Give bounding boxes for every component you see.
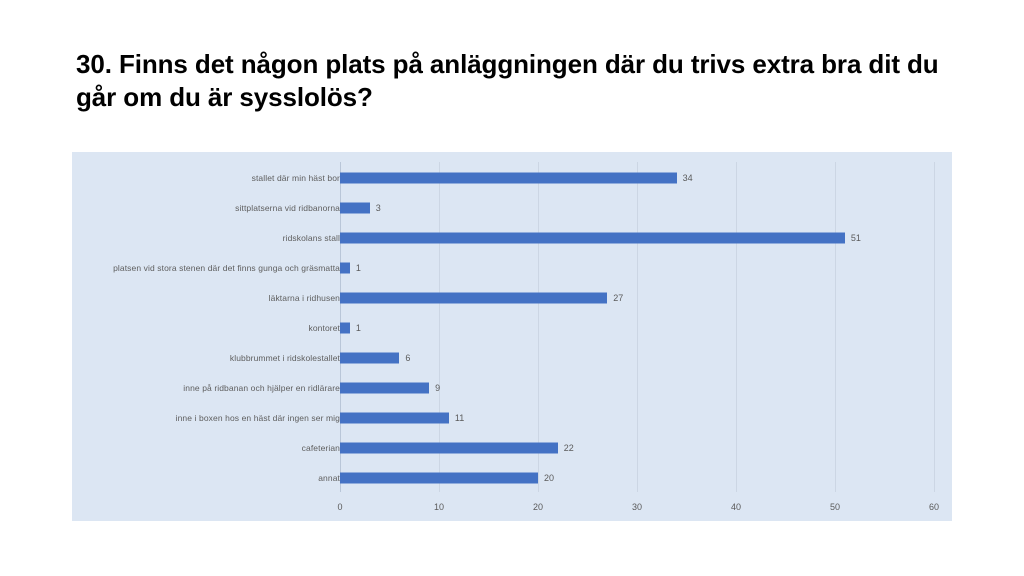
x-tick-label: 20 — [533, 502, 543, 512]
category-label: kontoret — [308, 323, 340, 333]
category-label: klubbrummet i ridskolestallet — [230, 353, 340, 363]
plot-area: 0102030405060 stallet där min häst bor34… — [72, 152, 952, 521]
bar-value-label: 6 — [405, 353, 410, 363]
x-tick-label: 30 — [632, 502, 642, 512]
bar[interactable] — [340, 413, 449, 424]
category-label: ridskolans stall — [283, 233, 340, 243]
bar-row: läktarna i ridhusen27 — [72, 283, 952, 313]
bar[interactable] — [340, 383, 429, 394]
chart-panel: 0102030405060 stallet där min häst bor34… — [72, 152, 952, 521]
x-tick-label: 40 — [731, 502, 741, 512]
bar-value-label: 9 — [435, 383, 440, 393]
bar[interactable] — [340, 353, 399, 364]
bar-value-label: 11 — [455, 413, 464, 423]
bar-row: inne på ridbanan och hjälper en ridlärar… — [72, 373, 952, 403]
bar-row: inne i boxen hos en häst där ingen ser m… — [72, 403, 952, 433]
bar-value-label: 1 — [356, 323, 361, 333]
bar-value-label: 1 — [356, 263, 361, 273]
bar-value-label: 51 — [851, 233, 861, 243]
x-tick-label: 60 — [929, 502, 939, 512]
bar[interactable] — [340, 473, 538, 484]
bar-row: klubbrummet i ridskolestallet6 — [72, 343, 952, 373]
bar-row: stallet där min häst bor34 — [72, 163, 952, 193]
bar-value-label: 34 — [683, 173, 693, 183]
x-tick-label: 0 — [337, 502, 342, 512]
bar[interactable] — [340, 443, 558, 454]
bar-value-label: 3 — [376, 203, 381, 213]
bar-row: sittplatserna vid ridbanorna3 — [72, 193, 952, 223]
x-tick-label: 10 — [434, 502, 444, 512]
category-label: stallet där min häst bor — [252, 173, 340, 183]
bar[interactable] — [340, 293, 607, 304]
category-label: inne på ridbanan och hjälper en ridlärar… — [183, 383, 340, 393]
bar-row: kontoret1 — [72, 313, 952, 343]
bar-row: cafeterian22 — [72, 433, 952, 463]
x-tick-label: 50 — [830, 502, 840, 512]
bar-value-label: 20 — [544, 473, 554, 483]
category-label: annat — [318, 473, 340, 483]
bar-row: ridskolans stall51 — [72, 223, 952, 253]
bar-row: annat20 — [72, 463, 952, 493]
bar[interactable] — [340, 173, 677, 184]
category-label: läktarna i ridhusen — [269, 293, 340, 303]
bar-row: platsen vid stora stenen där det finns g… — [72, 253, 952, 283]
category-label: inne i boxen hos en häst där ingen ser m… — [176, 413, 340, 423]
bar[interactable] — [340, 323, 350, 334]
bar[interactable] — [340, 263, 350, 274]
category-label: cafeterian — [302, 443, 340, 453]
bar-value-label: 22 — [564, 443, 574, 453]
category-label: sittplatserna vid ridbanorna — [235, 203, 340, 213]
bar[interactable] — [340, 233, 845, 244]
page-title: 30. Finns det någon plats på anläggninge… — [76, 48, 956, 115]
bar[interactable] — [340, 203, 370, 214]
bar-value-label: 27 — [613, 293, 623, 303]
category-label: platsen vid stora stenen där det finns g… — [113, 263, 340, 273]
